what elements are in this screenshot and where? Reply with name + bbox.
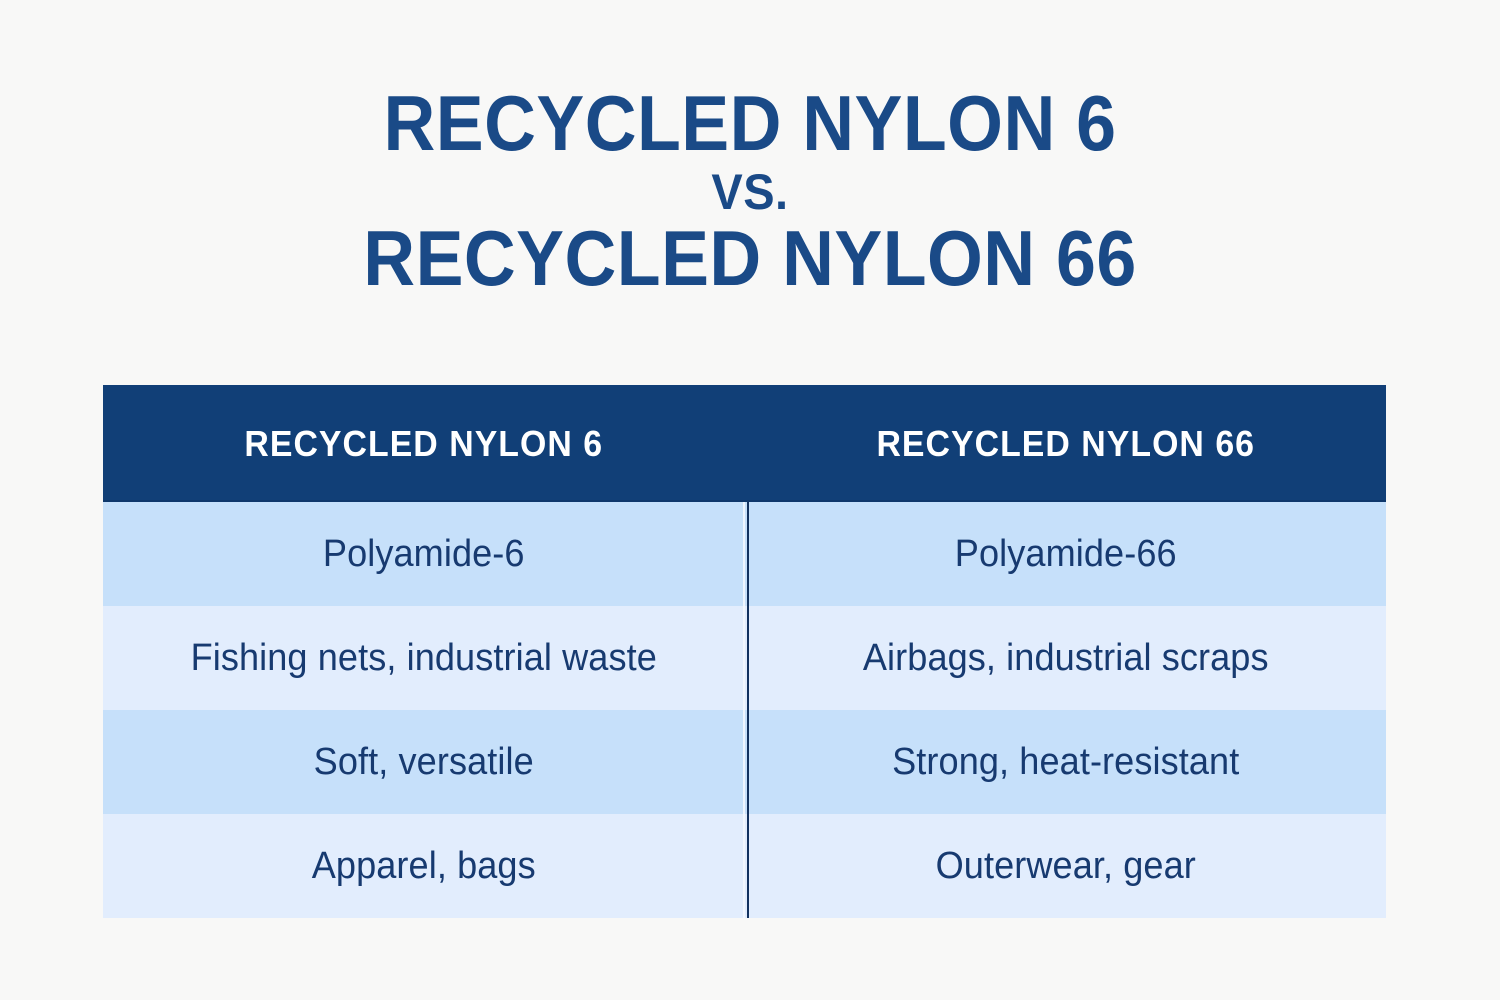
cell-nylon6-applications: Apparel, bags (119, 814, 728, 918)
cell-nylon6-properties: Soft, versatile (119, 710, 728, 814)
title-versus-label: VS. (45, 165, 1455, 219)
cell-nylon6-source: Fishing nets, industrial waste (119, 606, 728, 710)
column-header-nylon-66: RECYCLED NYLON 66 (764, 385, 1367, 502)
column-header-nylon-6: RECYCLED NYLON 6 (122, 385, 725, 502)
title-line-primary: RECYCLED NYLON 6 (60, 86, 1440, 161)
title-line-secondary: RECYCLED NYLON 66 (60, 221, 1440, 296)
column-divider (747, 502, 749, 918)
infographic-page: RECYCLED NYLON 6 VS. RECYCLED NYLON 66 R… (0, 0, 1500, 1000)
page-title: RECYCLED NYLON 6 VS. RECYCLED NYLON 66 (0, 86, 1500, 296)
cell-nylon66-applications: Outerwear, gear (761, 814, 1370, 918)
table-header-row: RECYCLED NYLON 6 RECYCLED NYLON 66 (103, 385, 1386, 502)
cell-nylon66-polymer: Polyamide-66 (761, 502, 1370, 606)
cell-nylon66-properties: Strong, heat-resistant (761, 710, 1370, 814)
column-divider-highlight (743, 502, 745, 918)
cell-nylon66-source: Airbags, industrial scraps (761, 606, 1370, 710)
comparison-table: RECYCLED NYLON 6 RECYCLED NYLON 66 Polya… (103, 385, 1386, 918)
cell-nylon6-polymer: Polyamide-6 (119, 502, 728, 606)
